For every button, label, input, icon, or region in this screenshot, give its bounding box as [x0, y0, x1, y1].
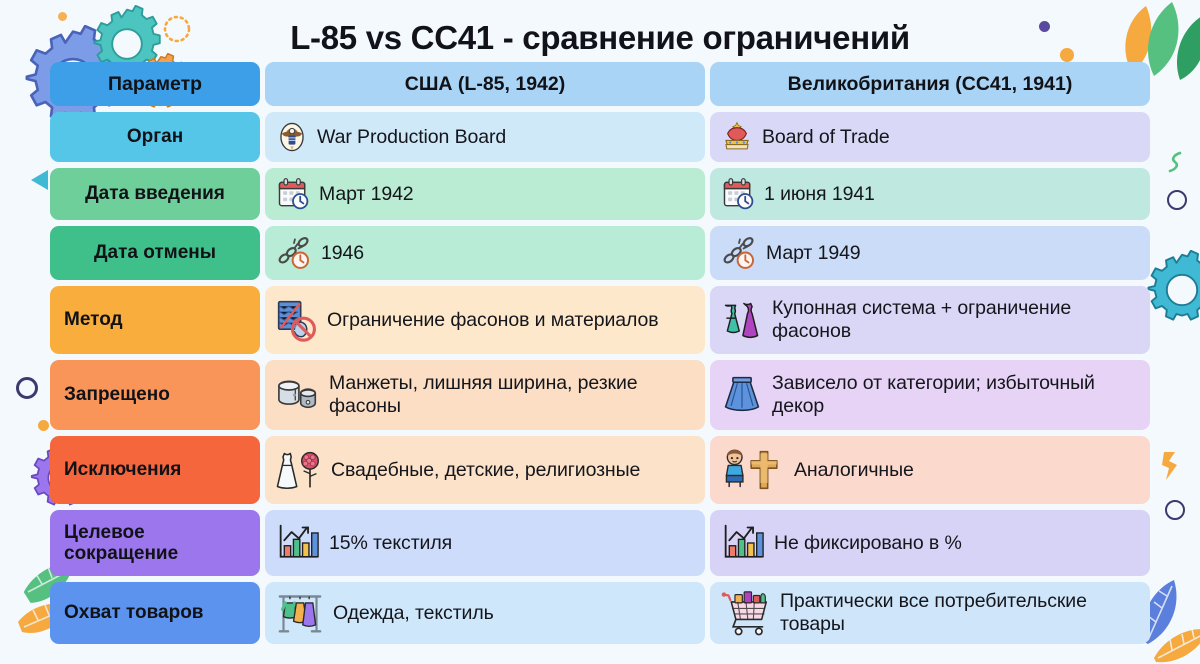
header-cell-usa: США (L-85, 1942) — [265, 62, 705, 106]
table-row: Охват товаров — [50, 582, 1150, 644]
row-label-start-date: Дата введения — [50, 168, 260, 220]
page-title: L-85 vs CC41 - сравнение ограничений — [50, 0, 1150, 62]
cell-usa-coverage: Одежда, текстиль — [265, 582, 705, 644]
bar-chart-growth-icon — [720, 510, 766, 576]
table-row: Запрещено Манжеты, лишняя ширина, резкие… — [50, 360, 1150, 430]
calendar-clock-icon — [275, 168, 311, 220]
table-header-row: Параметр США (L-85, 1942) Великобритания… — [50, 62, 1150, 106]
broken-chain-clock-icon — [275, 226, 313, 280]
table-row: Исключения — [50, 436, 1150, 504]
cell-uk-method: Купонная система + ограничение фасонов — [710, 286, 1150, 354]
row-label-text: Запрещено — [64, 384, 170, 405]
row-label-text: Исключения — [64, 459, 181, 480]
child-cross-icon — [720, 436, 786, 504]
cell-usa-text: Манжеты, лишняя ширина, резкие фасоны — [329, 372, 695, 418]
cell-uk-exceptions: Аналогичные — [710, 436, 1150, 504]
header-cell-uk: Великобритания (CC41, 1941) — [710, 62, 1150, 106]
row-label-forbidden: Запрещено — [50, 360, 260, 430]
two-dresses-icon — [720, 286, 764, 354]
cell-uk-text: Купонная система + ограничение фасонов — [772, 297, 1140, 343]
cell-usa-text: Одежда, текстиль — [333, 602, 494, 625]
cell-usa-exceptions: Свадебные, детские, религиозные — [265, 436, 705, 504]
cell-usa-forbidden: Манжеты, лишняя ширина, резкие фасоны — [265, 360, 705, 430]
cell-uk-text: 1 июня 1941 — [764, 183, 875, 206]
row-label-organ: Орган — [50, 112, 260, 162]
table-row: Метод Ограничение фасонов и мате — [50, 286, 1150, 354]
bar-chart-growth-icon — [275, 510, 321, 576]
cell-uk-text: Board of Trade — [762, 126, 890, 149]
cell-usa-text: Свадебные, детские, религиозные — [331, 459, 640, 482]
cell-usa-method: Ограничение фасонов и материалов — [265, 286, 705, 354]
eagle-seal-icon — [275, 112, 309, 162]
row-label-text: Дата введения — [85, 183, 225, 204]
table-row: Орган War Production Board — [50, 112, 1150, 162]
row-label-text: Дата отмены — [94, 242, 216, 263]
cell-uk-text: Зависело от категории; избыточный декор — [772, 372, 1140, 418]
table-row: Дата отмены — [50, 226, 1150, 280]
cell-usa-start-date: Март 1942 — [265, 168, 705, 220]
cell-usa-text: Ограничение фасонов и материалов — [327, 309, 659, 332]
cell-usa-text: 1946 — [321, 242, 364, 265]
table-row: Целевое сокращение 15% текстиля — [50, 510, 1150, 576]
cell-usa-organ: War Production Board — [265, 112, 705, 162]
no-fabric-icon — [275, 286, 319, 354]
cell-usa-text: Март 1942 — [319, 183, 414, 206]
row-label-target-reduction: Целевое сокращение — [50, 510, 260, 576]
comparison-table: Параметр США (L-85, 1942) Великобритания… — [50, 62, 1150, 644]
wedding-dress-bouquet-icon — [275, 436, 323, 504]
cell-uk-end-date: Март 1949 — [710, 226, 1150, 280]
cell-uk-text: Аналогичные — [794, 459, 914, 482]
skirt-icon — [720, 360, 764, 430]
cuffs-icon — [275, 360, 321, 430]
cell-usa-text: 15% текстиля — [329, 532, 452, 555]
table-row: Дата введения — [50, 168, 1150, 220]
header-cell-param: Параметр — [50, 62, 260, 106]
clothing-rack-icon — [275, 582, 325, 644]
shopping-cart-icon — [720, 582, 772, 644]
infographic-stage: L-85 vs CC41 - сравнение ограничений Пар… — [0, 0, 1200, 663]
cell-uk-text: Март 1949 — [766, 242, 861, 265]
broken-chain-clock-icon — [720, 226, 758, 280]
cell-uk-organ: Board of Trade — [710, 112, 1150, 162]
row-label-text: Целевое сокращение — [64, 522, 246, 565]
row-label-coverage: Охват товаров — [50, 582, 260, 644]
row-label-text: Охват товаров — [64, 602, 203, 623]
cell-usa-end-date: 1946 — [265, 226, 705, 280]
header-uk-label: Великобритания (CC41, 1941) — [788, 73, 1073, 96]
row-label-text: Орган — [127, 126, 183, 147]
header-param-label: Параметр — [108, 73, 202, 95]
calendar-clock-icon — [720, 168, 756, 220]
cell-usa-target-reduction: 15% текстиля — [265, 510, 705, 576]
crown-icon — [720, 112, 754, 162]
cell-uk-text: Не фиксировано в % — [774, 532, 962, 555]
cell-uk-coverage: Практически все потребительские товары — [710, 582, 1150, 644]
header-usa-label: США (L-85, 1942) — [405, 73, 565, 96]
row-label-text: Метод — [64, 309, 123, 330]
cell-uk-target-reduction: Не фиксировано в % — [710, 510, 1150, 576]
cell-usa-text: War Production Board — [317, 126, 506, 149]
cell-uk-forbidden: Зависело от категории; избыточный декор — [710, 360, 1150, 430]
cell-uk-start-date: 1 июня 1941 — [710, 168, 1150, 220]
row-label-end-date: Дата отмены — [50, 226, 260, 280]
row-label-exceptions: Исключения — [50, 436, 260, 504]
row-label-method: Метод — [50, 286, 260, 354]
cell-uk-text: Практически все потребительские товары — [780, 590, 1140, 636]
